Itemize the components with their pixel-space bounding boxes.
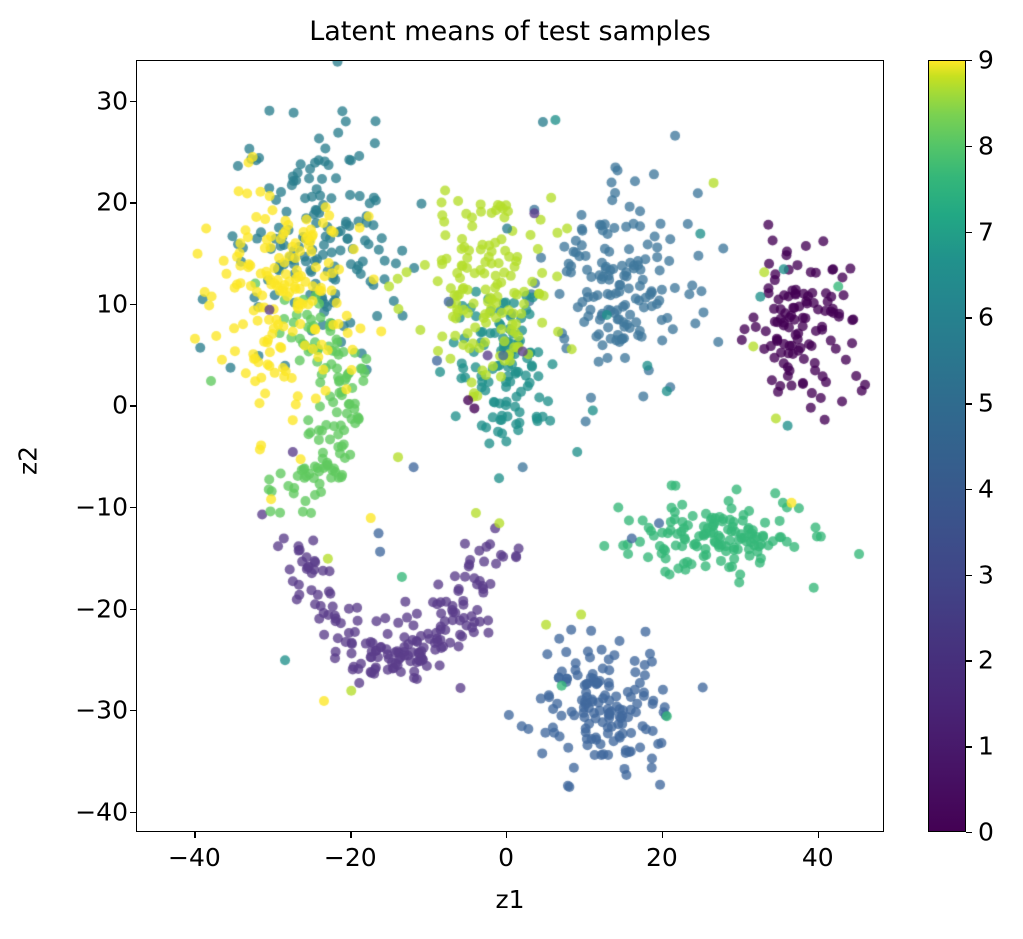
colorbar-tick-mark <box>966 317 972 318</box>
colorbar-tick-mark <box>966 146 972 147</box>
y-tick-label: 10 <box>0 289 128 318</box>
x-tick-label: 40 <box>802 843 834 872</box>
colorbar-tick-label: 5 <box>978 389 994 418</box>
x-tick-mark <box>506 832 507 838</box>
y-tick-mark <box>130 202 136 203</box>
y-tick-label: −40 <box>0 797 128 826</box>
y-tick-mark <box>130 710 136 711</box>
y-tick-label: 20 <box>0 188 128 217</box>
x-tick-mark <box>662 832 663 838</box>
x-axis-label: z1 <box>136 885 884 914</box>
x-tick-label: 20 <box>646 843 678 872</box>
colorbar-tick-mark <box>966 575 972 576</box>
colorbar-tick-mark <box>966 746 972 747</box>
colorbar-tick-label: 4 <box>978 474 994 503</box>
colorbar-tick-label: 3 <box>978 560 994 589</box>
y-tick-mark <box>130 101 136 102</box>
colorbar-tick-label: 9 <box>978 46 994 75</box>
plot-axes-area[interactable] <box>136 60 884 832</box>
colorbar-gradient[interactable] <box>928 60 966 832</box>
x-tick-mark <box>194 832 195 838</box>
y-tick-mark <box>130 609 136 610</box>
y-tick-label: 0 <box>0 391 128 420</box>
y-axis-label: z2 <box>14 421 43 501</box>
colorbar-tick-mark <box>966 403 972 404</box>
colorbar-tick-mark <box>966 832 972 833</box>
y-tick-label: −30 <box>0 696 128 725</box>
colorbar-tick-label: 1 <box>978 732 994 761</box>
y-tick-mark <box>130 405 136 406</box>
colorbar-tick-mark <box>966 60 972 61</box>
y-tick-label: −20 <box>0 594 128 623</box>
chart-title: Latent means of test samples <box>136 16 884 47</box>
x-tick-label: 0 <box>498 843 514 872</box>
x-tick-label: −40 <box>168 843 221 872</box>
colorbar-tick-mark <box>966 660 972 661</box>
colorbar-tick-label: 6 <box>978 303 994 332</box>
colorbar-tick-label: 2 <box>978 646 994 675</box>
colorbar-tick-label: 7 <box>978 217 994 246</box>
y-tick-label: 30 <box>0 86 128 115</box>
colorbar-tick-label: 8 <box>978 131 994 160</box>
colorbar-tick-mark <box>966 232 972 233</box>
scatter-points-layer <box>137 61 884 832</box>
colorbar-tick-label: 0 <box>978 818 994 847</box>
figure-canvas: Latent means of test samples 3020100−10−… <box>0 0 1023 939</box>
x-tick-mark <box>350 832 351 838</box>
y-tick-mark <box>130 812 136 813</box>
y-tick-mark <box>130 304 136 305</box>
y-tick-mark <box>130 507 136 508</box>
colorbar-tick-mark <box>966 489 972 490</box>
x-tick-label: −20 <box>324 843 377 872</box>
x-tick-mark <box>818 832 819 838</box>
